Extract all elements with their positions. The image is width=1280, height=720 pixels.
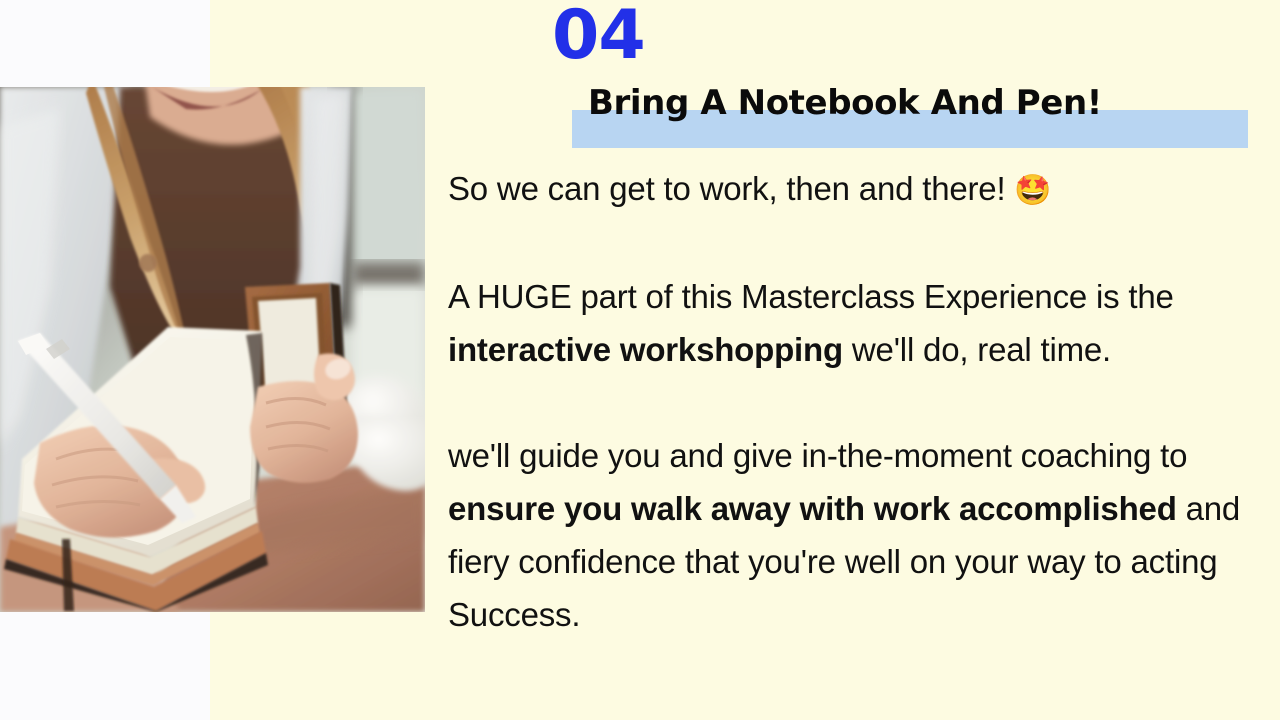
photo-frame (0, 87, 425, 612)
paragraph-2-tail: we'll do, real time. (843, 331, 1111, 368)
paragraph-1: So we can get to work, then and there! 🤩 (448, 162, 1280, 217)
paragraph-3-emphasis: ensure you walk away with work accomplis… (448, 490, 1177, 527)
paragraph-2-lead: A HUGE part of this Masterclass Experien… (448, 278, 1174, 315)
paragraph-3-lead: we'll guide you and give in-the-moment c… (448, 437, 1187, 474)
slide-root: 04 Bring A Notebook And Pen! So we can g… (0, 0, 1280, 720)
paragraph-1-text: So we can get to work, then and there! (448, 170, 1014, 207)
title-block: Bring A Notebook And Pen! (572, 82, 1280, 150)
paragraph-2: A HUGE part of this Masterclass Experien… (448, 270, 1280, 376)
content-column: 04 Bring A Notebook And Pen! So we can g… (448, 0, 1280, 720)
notebook-writing-photo (0, 87, 425, 612)
step-number: 04 (552, 2, 645, 70)
page-title: Bring A Notebook And Pen! (588, 82, 1102, 124)
paragraph-3: we'll guide you and give in-the-moment c… (448, 429, 1280, 641)
paragraph-2-emphasis: interactive workshopping (448, 331, 843, 368)
body-copy: So we can get to work, then and there! 🤩… (448, 162, 1280, 641)
star-struck-emoji: 🤩 (1014, 173, 1051, 208)
